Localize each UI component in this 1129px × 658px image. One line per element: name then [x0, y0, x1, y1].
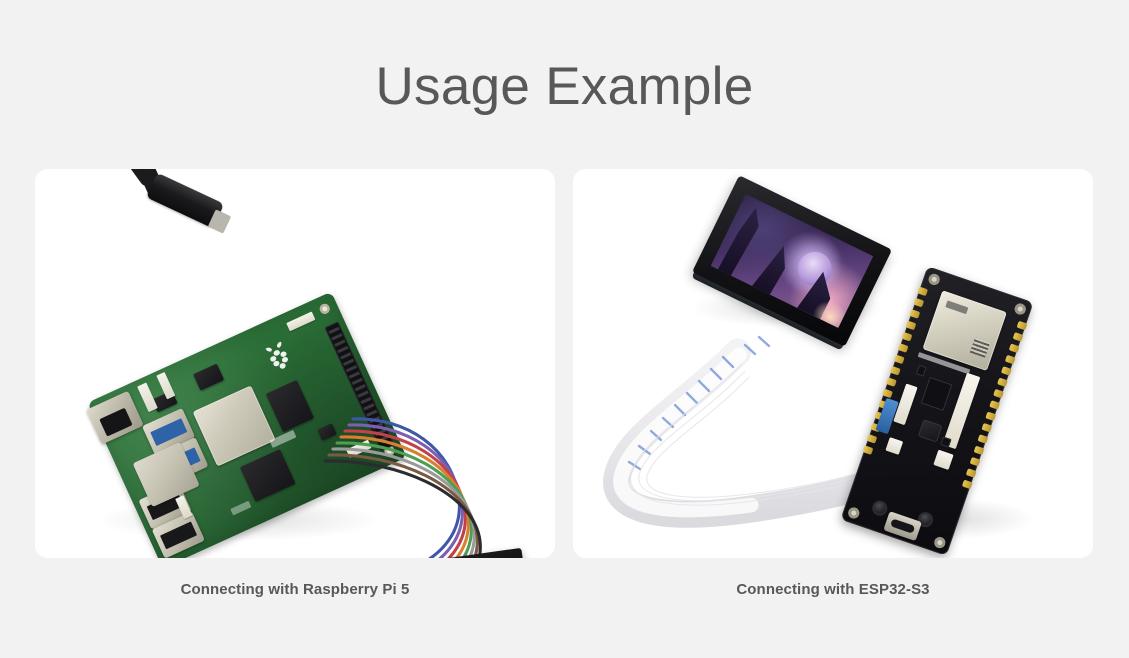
photo-card: [573, 169, 1093, 558]
usage-card-esp32-s3: Connecting with ESP32-S3: [573, 169, 1093, 598]
page-title: Usage Example: [0, 57, 1129, 118]
usage-example-page: Usage Example: [0, 0, 1129, 658]
white-ffc-ribbon-cable: [573, 169, 1093, 558]
usage-example-card-row: Connecting with Raspberry Pi 5: [35, 169, 1094, 598]
photo-card: [35, 169, 555, 558]
raspberry-pi-5-with-lcd-photo: [35, 169, 555, 558]
esp32-s3-with-lcd-photo: [573, 169, 1093, 558]
card-caption: Connecting with ESP32-S3: [573, 581, 1093, 598]
card-caption: Connecting with Raspberry Pi 5: [35, 581, 555, 598]
jumper-wire-bundle: [35, 169, 555, 558]
usage-card-raspberry-pi: Connecting with Raspberry Pi 5: [35, 169, 555, 598]
